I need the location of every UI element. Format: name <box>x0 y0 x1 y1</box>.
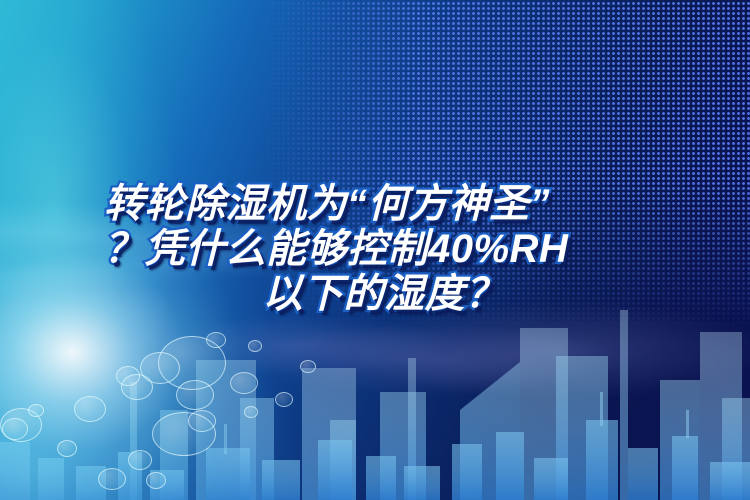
bubble <box>275 392 293 407</box>
bubble <box>158 336 226 390</box>
title-line-2: ？凭什么能够控制40%RH <box>104 227 664 272</box>
bubble <box>57 440 77 457</box>
bubble <box>0 408 42 442</box>
bubble <box>140 352 180 384</box>
bubble <box>2 418 28 440</box>
bubble <box>230 372 258 394</box>
bubble <box>146 472 166 489</box>
bubble <box>98 468 126 490</box>
title-line-3: 以下的湿度？ <box>104 272 664 317</box>
title-line-1: 转轮除湿机为“何方神圣” <box>104 182 664 227</box>
bubble <box>28 404 44 417</box>
promotional-banner: 转轮除湿机为“何方神圣” ？凭什么能够控制40%RH 以下的湿度？ <box>0 0 750 500</box>
bubble <box>116 366 140 386</box>
bubble <box>206 332 226 348</box>
bubble <box>152 412 216 456</box>
bubble <box>74 396 106 422</box>
bubble <box>248 340 262 352</box>
bubble <box>188 410 216 432</box>
bubble <box>244 406 258 418</box>
banner-title: 转轮除湿机为“何方神圣” ？凭什么能够控制40%RH 以下的湿度？ <box>104 182 664 317</box>
bubble <box>176 380 214 410</box>
bubble <box>121 374 153 400</box>
bubble <box>300 360 316 373</box>
bubble <box>128 450 152 470</box>
